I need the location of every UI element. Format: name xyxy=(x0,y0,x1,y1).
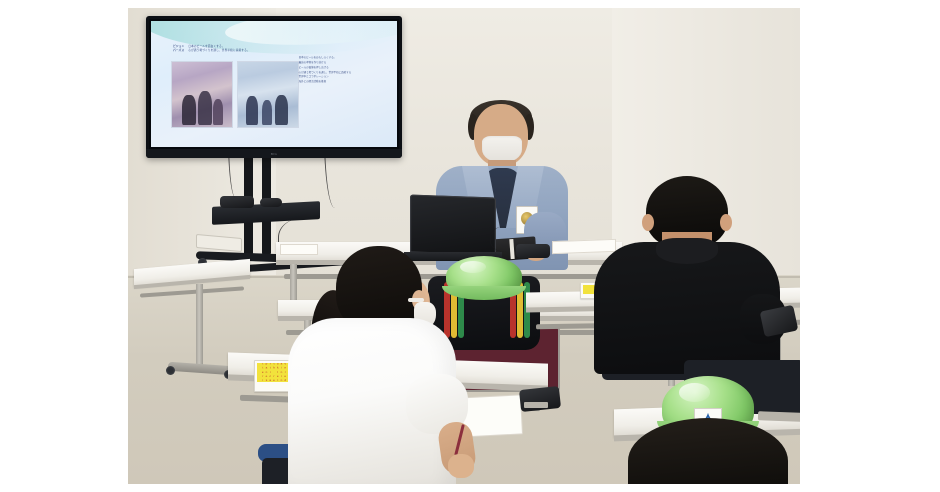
person-attendee-black-polo xyxy=(594,176,784,376)
slide-heading-label-2: パーパス xyxy=(173,49,184,52)
yellow-manual-front-title: yellow-covered training booklet with red… xyxy=(260,363,290,382)
attendee-black-polo-collar xyxy=(656,238,718,264)
person-attendee-foreground-right xyxy=(628,418,788,484)
attendee-black-polo-ear-left xyxy=(642,214,654,231)
slide-photo-2 xyxy=(237,61,299,128)
slide-heading-line-2: パーパス心が通う場づくりを通し、世界平和に貢献する。 xyxy=(173,49,345,53)
slide-heading-text-2: 心が通う場づくりを通し、世界平和に貢献する。 xyxy=(188,49,249,52)
slide-photo-row xyxy=(171,61,299,128)
slide-bullet-6: 海外との経済活動を推進 xyxy=(299,80,388,85)
slide-heading-text-1: 日本のビールを面白くする。 xyxy=(188,45,224,48)
presentation-slide: ビジョン日本のビールを面白くする。 パーパス心が通う場づくりを通し、世界平和に貢… xyxy=(151,21,397,147)
attendee-foreground-right-hair xyxy=(628,418,788,484)
slide-photo-1 xyxy=(171,61,233,128)
letterbox-right xyxy=(800,0,940,492)
instructor-face-mask xyxy=(482,136,522,163)
table-rear-left-leg xyxy=(196,284,203,370)
attendee-black-polo-ear-right xyxy=(720,214,732,231)
slide-heading-label-1: ビジョン xyxy=(173,45,184,48)
desk-clip xyxy=(524,402,548,408)
tv-brand-logo: BIG xyxy=(271,152,277,156)
person-attendee-white-shirt xyxy=(288,246,488,484)
flat-screen-tv[interactable]: ビジョン日本のビールを面白くする。 パーパス心が通う場づくりを通し、世界平和に貢… xyxy=(146,16,402,158)
letterbox-bottom xyxy=(0,484,940,492)
slide-bullet-list: 日本のビールをおもしろくする。 最高の本物を作り続ける ビールの価値を押し広げる… xyxy=(299,56,388,85)
table-rear-left-caster xyxy=(166,366,175,375)
attendee-white-shirt-hand xyxy=(448,454,474,478)
shelf-remote xyxy=(260,198,282,207)
photograph: ビジョン日本のビールを面白くする。 パーパス心が通う場づくりを通し、世界平和に貢… xyxy=(128,8,800,484)
hard-hat-desk-gloss xyxy=(679,383,710,402)
image-frame: ビジョン日本のビールを面白くする。 パーパス心が通う場づくりを通し、世界平和に貢… xyxy=(0,0,940,492)
slide-heading: ビジョン日本のビールを面白くする。 パーパス心が通う場づくりを通し、世界平和に貢… xyxy=(173,45,345,53)
desk-cable xyxy=(490,226,531,252)
letterbox-left xyxy=(0,0,128,492)
foreground-device xyxy=(519,386,561,412)
letterbox-top xyxy=(0,0,940,8)
